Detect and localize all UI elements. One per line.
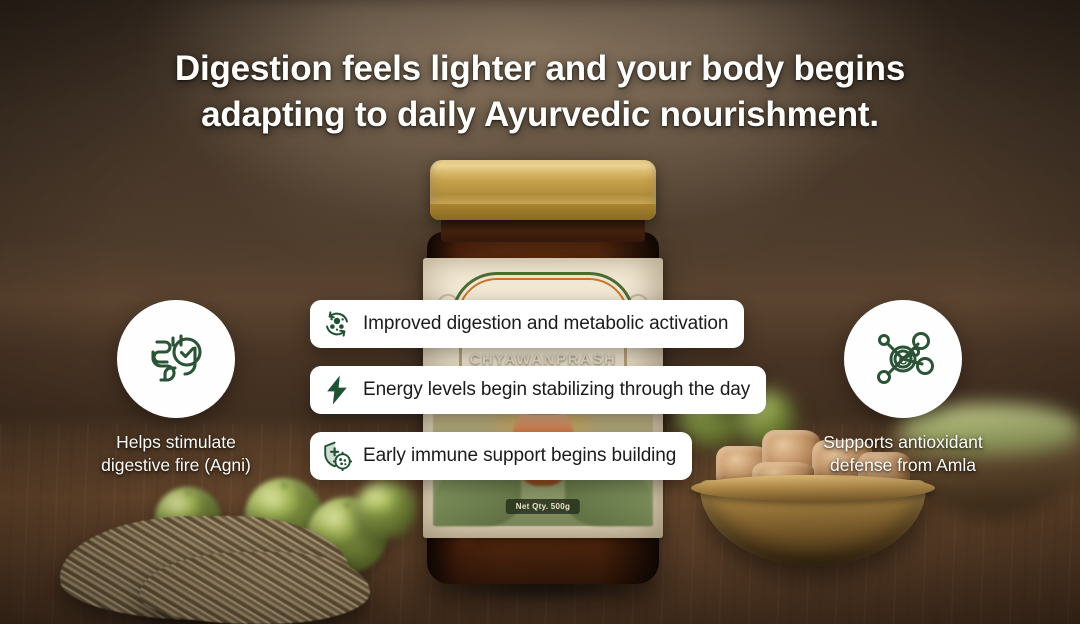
metabolism-cycle-icon — [322, 309, 352, 339]
benefit-card-label: Energy levels begin stabilizing through … — [363, 379, 750, 401]
caption-line-1: Helps stimulate — [116, 432, 236, 452]
badge-caption-left: Helps stimulate digestive fire (Agni) — [51, 431, 301, 477]
headline-line-1: Digestion feels lighter and your body be… — [0, 46, 1080, 92]
benefit-card-label: Improved digestion and metabolic activat… — [363, 313, 728, 335]
headline-line-2: adapting to daily Ayurvedic nourishment. — [0, 92, 1080, 138]
caption-line-1: Supports antioxidant — [823, 432, 983, 452]
benefit-badge-left: Helps stimulate digestive fire (Agni) — [51, 300, 301, 477]
net-quantity-badge: Net Qty. 500g — [506, 499, 580, 514]
benefit-card[interactable]: Early immune support begins building — [310, 432, 692, 480]
caption-line-2: digestive fire (Agni) — [101, 455, 251, 475]
vitamin-c-molecule-icon: C — [866, 322, 940, 396]
dried-herb-pile — [140, 552, 370, 624]
benefit-card-label: Early immune support begins building — [363, 445, 676, 467]
caption-line-2: defense from Amla — [830, 455, 976, 475]
badge-circle-right: C — [844, 300, 962, 418]
digestive-intestine-check-icon — [139, 322, 213, 396]
lightning-bolt-icon — [322, 375, 352, 405]
benefit-card[interactable]: Energy levels begin stabilizing through … — [310, 366, 766, 414]
shield-immunity-icon — [322, 441, 352, 471]
page-title: Digestion feels lighter and your body be… — [0, 46, 1080, 138]
jar-lid — [430, 160, 656, 220]
benefit-badge-right: C Supports antioxidant defense from Amla — [778, 300, 1028, 477]
badge-caption-right: Supports antioxidant defense from Amla — [778, 431, 1028, 477]
benefit-card[interactable]: Improved digestion and metabolic activat… — [310, 300, 744, 348]
svg-text:C: C — [899, 354, 908, 368]
benefit-card-list: Improved digestion and metabolic activat… — [310, 300, 766, 498]
badge-circle-left — [117, 300, 235, 418]
promo-banner: CHYAWANPRASH Net Qty. 500g Digestion fee… — [0, 0, 1080, 624]
